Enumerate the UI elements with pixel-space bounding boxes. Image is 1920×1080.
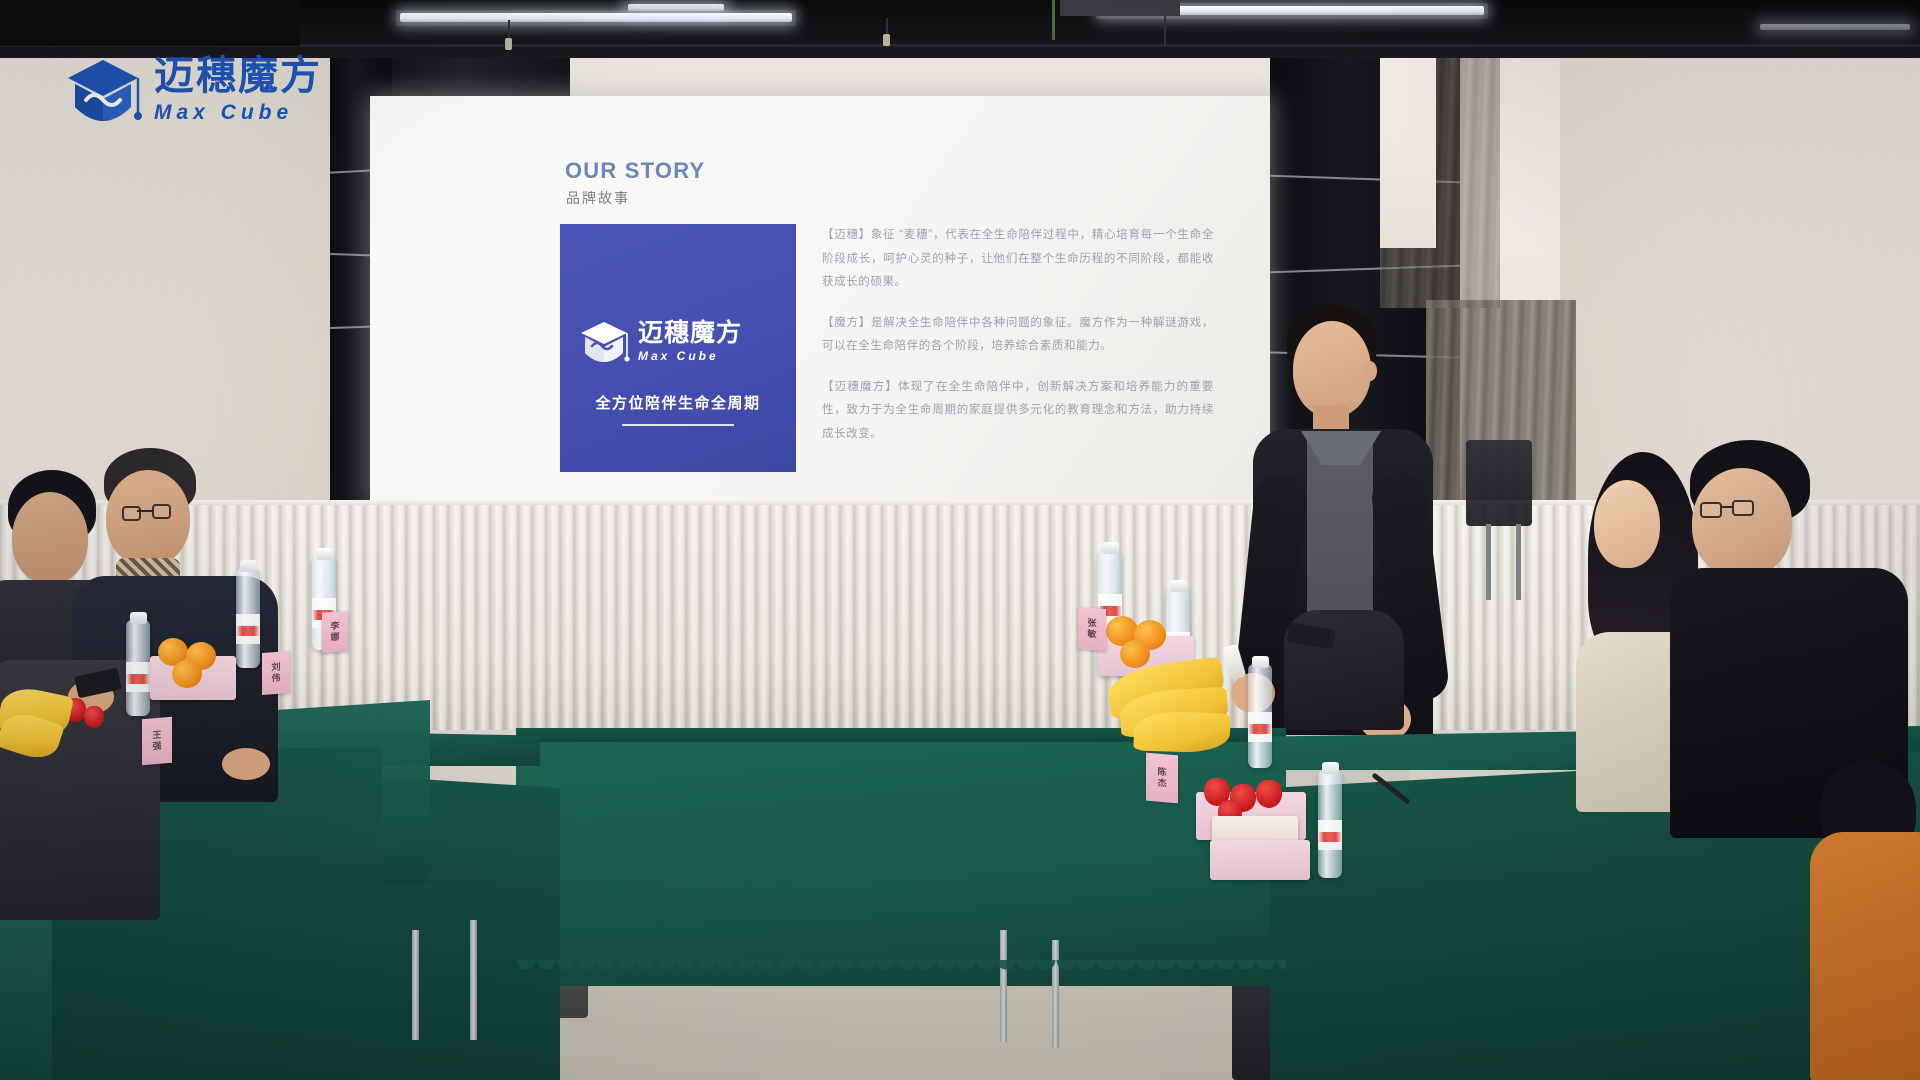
bottle-cap-3 [316, 548, 333, 560]
chair-right-rear [1466, 440, 1532, 526]
slide-brand-card: 迈穗魔方 Max Cube 全方位陪伴生命全周期 [560, 224, 796, 472]
bottle-label-6 [1248, 712, 1272, 742]
chair-leg-a [1486, 524, 1491, 600]
graduation-cap-cube-icon [576, 316, 632, 366]
attendee-right-2-glasses-lens-left [1700, 502, 1722, 518]
slide-paragraph-1: 【迈穗】象征 “麦穗”，代表在全生命陪伴过程中，精心培育每一个生命全阶段成长，呵… [822, 224, 1214, 295]
slide-card-name-en: Max Cube [638, 350, 742, 362]
water-bottle-1 [126, 620, 150, 716]
led-strip-c [628, 4, 724, 11]
water-bottle-7 [1318, 770, 1342, 878]
orange-l3 [172, 660, 202, 688]
led-strip-a [400, 13, 792, 22]
bottle-cap-2 [240, 560, 257, 572]
table-leg-b [470, 920, 477, 1040]
orange-r3 [1120, 640, 1150, 668]
ceiling-fixture-left [0, 0, 300, 46]
attendee-right-2-head [1692, 468, 1792, 578]
attendee-left-2-hand [222, 748, 270, 780]
bottle-cap-6 [1252, 656, 1269, 668]
attendee-left-2-glasses-lens-right [152, 504, 171, 519]
name-card-3: 李娜 [322, 611, 348, 652]
slide-card-tagline: 全方位陪伴生命全周期 [560, 392, 796, 413]
brand-name-en: Max Cube [154, 102, 322, 123]
ceiling-pipe-c [1164, 16, 1166, 46]
attendee-left-1-head [12, 492, 88, 584]
ceiling-wire-green [1052, 0, 1055, 40]
conference-room-photo: OUR STORY 品牌故事 迈穗魔方 Max Cube [0, 0, 1920, 1080]
slide-title-zh: 品牌故事 [566, 188, 630, 208]
attendee-right-4 [1284, 590, 1404, 730]
slide-body-text: 【迈穗】象征 “麦穗”，代表在全生命陪伴过程中，精心培育每一个生命全阶段成长，呵… [822, 224, 1214, 464]
attendee-right-2-glasses-bridge [1720, 506, 1734, 508]
attendee-left-2-glasses-bridge [137, 510, 153, 512]
name-card-1: 王强 [142, 717, 172, 766]
ceiling-vent [1060, 0, 1180, 16]
projected-slide: OUR STORY 品牌故事 迈穗魔方 Max Cube [370, 96, 1270, 510]
name-card-5: 陈杰 [1146, 753, 1178, 804]
bottle-cap-4 [1102, 542, 1119, 554]
led-strip-d [1760, 24, 1910, 30]
slide-card-divider [622, 424, 734, 426]
attendee-right-3-sweater [1810, 832, 1920, 1080]
bottle-cap-7 [1322, 762, 1339, 774]
strawberry-l2 [84, 706, 104, 728]
slide-paragraph-3: 【迈穗魔方】体现了在全生命陪伴中，创新解决方案和培养能力的重要性，致力于为全生命… [822, 376, 1214, 447]
presenter-ear [1363, 361, 1377, 381]
bottle-label-2 [236, 614, 260, 644]
bottle-label-1 [126, 662, 150, 692]
bottle-cap-5 [1170, 580, 1187, 592]
table-leg-c [1000, 930, 1007, 1042]
table-leg-a [412, 930, 419, 1040]
name-card-2: 刘伟 [262, 651, 290, 695]
bottle-cap-1 [130, 612, 147, 624]
table-cloth-scallop [516, 960, 1286, 974]
brand-overlay: 迈穗魔方 Max Cube [62, 52, 322, 126]
attendee-right-2-glasses-lens-right [1732, 500, 1754, 516]
attendee-left-2-head [106, 470, 190, 566]
brand-name-zh: 迈穗魔方 [154, 56, 322, 96]
sprinkler-head-b [883, 34, 890, 46]
attendee-right-3 [1820, 760, 1920, 1080]
water-bottle-2 [236, 568, 260, 668]
attendee-left-2-glasses-lens-left [122, 506, 141, 521]
sprinkler-head-a [505, 38, 512, 50]
table-leg-d [1052, 940, 1059, 1048]
wall-niche-white [1380, 58, 1436, 248]
presenter-head [1293, 321, 1371, 417]
fruit-tray-right-4 [1210, 840, 1310, 880]
water-bottle-6 [1248, 664, 1272, 768]
attendee-right-1-head [1594, 480, 1660, 568]
name-card-4: 张敏 [1078, 607, 1106, 651]
strawberry-r3 [1256, 780, 1282, 808]
chair-leg-b [1516, 524, 1521, 600]
slide-title-en: OUR STORY [565, 158, 705, 184]
slide-card-logo-row: 迈穗魔方 Max Cube [576, 310, 782, 372]
slide-card-name-zh: 迈穗魔方 [638, 321, 742, 346]
bottle-label-7 [1318, 820, 1342, 850]
slide-paragraph-2: 【魔方】是解决全生命陪伴中各种问题的象征。魔方作为一种解谜游戏，可以在全生命陪伴… [822, 312, 1214, 359]
brand-graduation-cap-cube-icon [62, 52, 144, 126]
